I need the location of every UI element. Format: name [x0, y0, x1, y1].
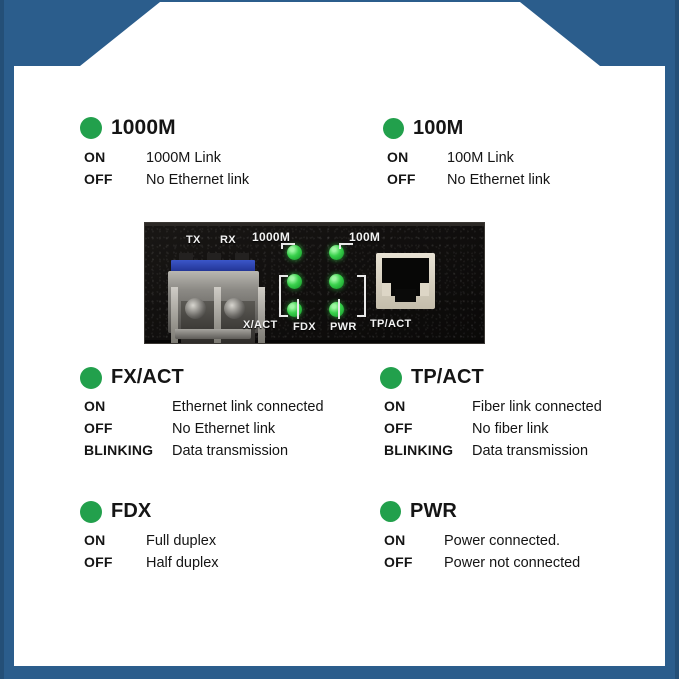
device-led-100m: [329, 245, 344, 260]
device-led-tp-act: [329, 274, 344, 289]
device-led-1000m: [287, 245, 302, 260]
state-label: ON: [84, 530, 146, 551]
state-label: OFF: [84, 169, 146, 190]
leader-line-fx-act: [279, 275, 281, 317]
device-label-tx: TX: [186, 234, 201, 246]
indicator-state-list: ON 1000M Link OFF No Ethernet link: [84, 147, 249, 191]
state-label: OFF: [387, 169, 447, 190]
device-label-100m: 100M: [349, 230, 380, 244]
leader-line-pwr: [338, 299, 340, 319]
page-title: LED Indicators: [0, 13, 679, 53]
state-row: BLINKING Data transmission: [384, 440, 602, 462]
state-description: No Ethernet link: [172, 419, 275, 440]
indicator-name: FX/ACT: [111, 366, 184, 389]
state-description: 1000M Link: [146, 148, 221, 169]
leader-line-tp-act-bottom: [357, 315, 366, 317]
state-description: Ethernet link connected: [172, 397, 324, 418]
state-label: ON: [384, 530, 444, 551]
indicator-state-list: ON Fiber link connected OFF No fiber lin…: [384, 396, 602, 462]
indicator-state-list: ON Power connected. OFF Power not connec…: [384, 530, 580, 574]
state-row: ON Full duplex: [84, 530, 219, 552]
state-row: ON Fiber link connected: [384, 396, 602, 418]
state-description: Power not connected: [444, 553, 580, 574]
state-label: OFF: [384, 552, 444, 573]
state-description: Data transmission: [472, 441, 588, 462]
state-label: BLINKING: [84, 440, 172, 461]
device-label-pwr: PWR: [330, 321, 357, 333]
state-row: ON Power connected.: [384, 530, 580, 552]
indicator-block-1000m: 1000M ON 1000M Link OFF No Ethernet link: [78, 116, 249, 191]
leader-line-100m-tick: [339, 243, 341, 249]
state-row: ON 1000M Link: [84, 147, 249, 169]
indicator-block-pwr: PWR ON Power connected. OFF Power not co…: [380, 500, 580, 574]
green-led-dot-icon: [80, 501, 102, 523]
state-row: ON Ethernet link connected: [84, 396, 324, 418]
media-converter-photo: TX RX 1000M 100M X/ACT FDX PWR TP/ACT: [145, 223, 484, 343]
device-led-fdx: [287, 302, 302, 317]
state-description: No fiber link: [472, 419, 549, 440]
indicator-name: 100M: [413, 117, 463, 140]
indicator-state-list: ON 100M Link OFF No Ethernet link: [387, 147, 550, 191]
fiber-ferrule-tx: [185, 298, 206, 319]
fiber-base-plate: [175, 329, 251, 339]
rj45-step-right: [420, 283, 429, 296]
device-led-fx-act: [287, 274, 302, 289]
state-row: OFF No Ethernet link: [84, 169, 249, 191]
state-row: OFF Half duplex: [84, 552, 219, 574]
state-description: Fiber link connected: [472, 397, 602, 418]
state-description: No Ethernet link: [146, 170, 249, 191]
state-row: OFF Power not connected: [384, 552, 580, 574]
state-row: ON 100M Link: [387, 147, 550, 169]
green-led-dot-icon: [383, 118, 404, 139]
state-description: Full duplex: [146, 531, 216, 552]
state-row: OFF No Ethernet link: [387, 169, 550, 191]
state-label: OFF: [84, 552, 146, 573]
device-label-tp-act: TP/ACT: [370, 318, 412, 330]
device-label-rx: RX: [220, 234, 236, 246]
rj45-latch-notch: [395, 289, 416, 302]
indicator-header: TP/ACT: [380, 366, 602, 389]
state-row: OFF No Ethernet link: [84, 418, 324, 440]
leader-line-fdx: [297, 299, 299, 319]
state-row: BLINKING Data transmission: [84, 440, 324, 462]
indicator-header: PWR: [380, 500, 580, 523]
indicator-block-fdx: FDX ON Full duplex OFF Half duplex: [78, 500, 219, 574]
state-description: No Ethernet link: [447, 170, 550, 191]
indicator-name: TP/ACT: [411, 366, 484, 389]
indicator-block-tp-act: TP/ACT ON Fiber link connected OFF No fi…: [380, 366, 602, 462]
state-label: ON: [384, 396, 472, 417]
rj45-ethernet-port: [376, 253, 435, 309]
indicator-name: FDX: [111, 500, 151, 523]
indicator-state-list: ON Ethernet link connected OFF No Ethern…: [84, 396, 324, 462]
state-description: Power connected.: [444, 531, 560, 552]
leader-line-tp-act-top: [357, 275, 366, 277]
device-label-fdx: FDX: [293, 321, 316, 333]
device-top-edge: [145, 223, 484, 226]
frame-edge-right: [675, 0, 679, 679]
state-description: 100M Link: [447, 148, 514, 169]
indicator-header: 1000M: [80, 116, 249, 140]
indicator-name: PWR: [410, 500, 457, 523]
frame-edge-left: [0, 0, 4, 679]
state-row: OFF No fiber link: [384, 418, 602, 440]
indicator-header: FDX: [80, 500, 219, 523]
rj45-step-left: [382, 283, 391, 296]
device-label-1000m: 1000M: [252, 230, 290, 244]
frame-border-bottom: [0, 666, 679, 679]
indicator-block-100m: 100M ON 100M Link OFF No Ethernet link: [383, 117, 550, 191]
green-led-dot-icon: [380, 501, 401, 522]
state-description: Data transmission: [172, 441, 288, 462]
leader-line-fx-act-top: [279, 275, 288, 277]
indicator-header: FX/ACT: [80, 366, 324, 389]
green-led-dot-icon: [80, 367, 102, 389]
fiber-ferrule-rx: [224, 298, 245, 319]
state-label: OFF: [384, 418, 472, 439]
state-label: ON: [84, 396, 172, 417]
indicator-name: 1000M: [111, 116, 176, 140]
fiber-post: [258, 287, 265, 343]
leader-line-fx-act-bottom: [279, 315, 288, 317]
green-led-dot-icon: [80, 117, 102, 139]
state-label: ON: [387, 147, 447, 168]
state-label: BLINKING: [384, 440, 472, 461]
indicator-header: 100M: [383, 117, 550, 140]
state-label: ON: [84, 147, 146, 168]
indicator-state-list: ON Full duplex OFF Half duplex: [84, 530, 219, 574]
indicator-block-fx-act: FX/ACT ON Ethernet link connected OFF No…: [78, 366, 324, 462]
state-label: OFF: [84, 418, 172, 439]
leader-line-tp-act: [364, 275, 366, 317]
state-description: Half duplex: [146, 553, 219, 574]
green-led-dot-icon: [380, 367, 402, 389]
infographic-page: LED Indicators 1000M ON 1000M Link OFF N…: [0, 0, 679, 679]
device-led-pwr: [329, 302, 344, 317]
device-label-fx-act: X/ACT: [243, 319, 278, 331]
